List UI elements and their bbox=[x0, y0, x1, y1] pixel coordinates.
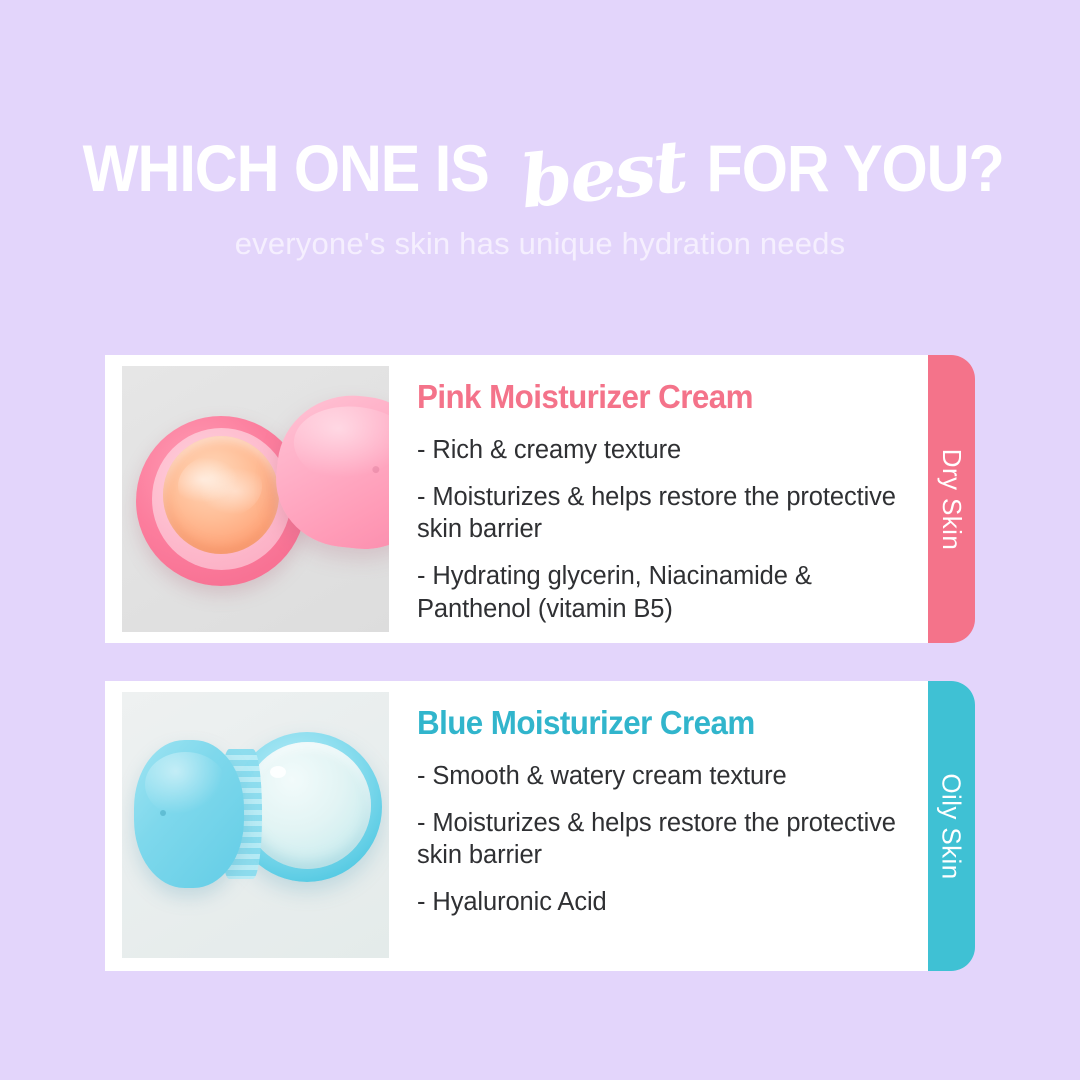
feature-item: - Smooth & watery cream texture bbox=[417, 760, 906, 793]
product-image-blue bbox=[122, 692, 389, 958]
feature-item: - Moisturizes & helps restore the protec… bbox=[417, 481, 906, 546]
headline-part-2: FOR YOU? bbox=[706, 135, 1003, 201]
skin-type-tab-oily[interactable]: Oily Skin bbox=[928, 681, 975, 971]
headline-part-1: WHICH ONE IS bbox=[83, 135, 489, 201]
skin-type-tab-label: Oily Skin bbox=[936, 773, 967, 879]
card-body-pink: Pink Moisturizer Cream - Rich & creamy t… bbox=[105, 355, 928, 643]
blue-gel-bubble bbox=[270, 766, 286, 778]
product-title-pink: Pink Moisturizer Cream bbox=[417, 378, 882, 416]
feature-item: - Moisturizes & helps restore the protec… bbox=[417, 807, 906, 872]
subtitle: everyone's skin has unique hydration nee… bbox=[0, 226, 1080, 262]
skin-type-tab-dry[interactable]: Dry Skin bbox=[928, 355, 975, 643]
product-title-blue: Blue Moisturizer Cream bbox=[417, 704, 882, 742]
pink-lid-dot bbox=[372, 466, 380, 474]
headline: WHICH ONE IS best FOR YOU? bbox=[0, 132, 1080, 204]
feature-item: - Hyaluronic Acid bbox=[417, 886, 906, 919]
feature-item: - Hydrating glycerin, Niacinamide & Pant… bbox=[417, 560, 906, 625]
blue-jar-gel bbox=[244, 742, 371, 869]
pink-cream-swirl bbox=[178, 454, 262, 518]
feature-item: - Rich & creamy texture bbox=[417, 434, 906, 467]
product-card-pink[interactable]: Pink Moisturizer Cream - Rich & creamy t… bbox=[105, 355, 975, 643]
card-body-blue: Blue Moisturizer Cream - Smooth & watery… bbox=[105, 681, 928, 971]
infographic-page: WHICH ONE IS best FOR YOU? everyone's sk… bbox=[0, 0, 1080, 1080]
header: WHICH ONE IS best FOR YOU? everyone's sk… bbox=[0, 132, 1080, 262]
blue-lid-dot bbox=[160, 810, 166, 816]
product-card-blue[interactable]: Blue Moisturizer Cream - Smooth & watery… bbox=[105, 681, 975, 971]
skin-type-tab-label: Dry Skin bbox=[936, 448, 967, 549]
card-content-blue: Blue Moisturizer Cream - Smooth & watery… bbox=[389, 692, 928, 919]
headline-script-word: best bbox=[517, 130, 689, 219]
blue-jar-lid bbox=[134, 740, 244, 888]
card-content-pink: Pink Moisturizer Cream - Rich & creamy t… bbox=[389, 366, 928, 625]
product-image-pink bbox=[122, 366, 389, 632]
